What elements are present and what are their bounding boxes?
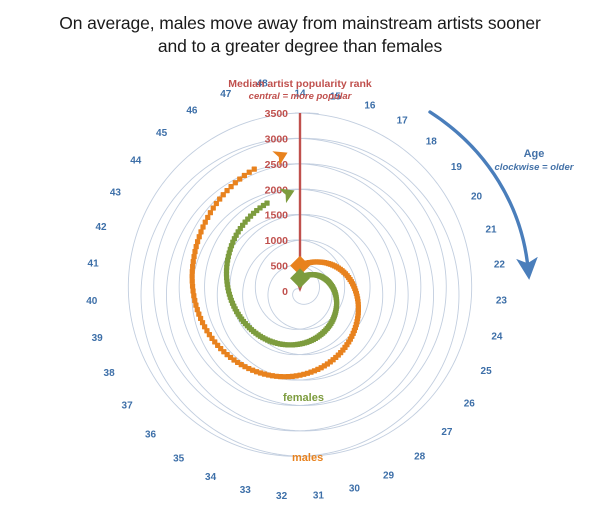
age-tick-label: 42 bbox=[95, 222, 107, 233]
series-label-females: females bbox=[283, 392, 324, 404]
age-tick-label: 43 bbox=[110, 187, 122, 198]
age-tick-label: 41 bbox=[88, 259, 100, 270]
age-annotation-label: Age bbox=[524, 148, 545, 160]
age-tick-label: 27 bbox=[441, 427, 453, 438]
age-tick-label: 39 bbox=[92, 333, 104, 344]
age-tick-label: 35 bbox=[173, 454, 185, 465]
age-tick-label: 30 bbox=[349, 484, 361, 495]
age-tick-label: 28 bbox=[414, 451, 426, 462]
age-tick-label: 19 bbox=[451, 162, 463, 173]
age-tick-label: 36 bbox=[145, 430, 157, 441]
age-tick-label: 31 bbox=[313, 491, 325, 502]
age-tick-labels: 1415161718192021222324252627282930313233… bbox=[86, 78, 507, 502]
radial-tick-label: 500 bbox=[270, 261, 288, 273]
chart-page: On average, males move away from mainstr… bbox=[0, 0, 600, 516]
age-tick-label: 21 bbox=[485, 225, 497, 236]
radial-axis-title: Median artist popularity rank central = … bbox=[180, 78, 420, 103]
age-tick-label: 45 bbox=[156, 128, 168, 139]
age-tick-label: 44 bbox=[130, 156, 142, 167]
radial-tick-label: 1500 bbox=[265, 210, 289, 222]
age-tick-label: 38 bbox=[104, 368, 116, 379]
age-tick-label: 37 bbox=[122, 401, 134, 412]
age-tick-label: 25 bbox=[481, 366, 493, 377]
age-tick-label: 33 bbox=[240, 485, 252, 496]
radial-tick-label: 3000 bbox=[265, 133, 289, 145]
age-tick-label: 18 bbox=[426, 136, 438, 147]
age-tick-label: 26 bbox=[464, 398, 476, 409]
age-tick-label: 20 bbox=[471, 192, 483, 203]
radial-tick-label: 1000 bbox=[265, 235, 289, 247]
age-tick-label: 24 bbox=[491, 332, 503, 343]
age-tick-label: 40 bbox=[86, 296, 98, 307]
age-tick-label: 46 bbox=[186, 106, 198, 117]
age-tick-label: 23 bbox=[496, 296, 508, 307]
radial-axis-sublabel: central = more popular bbox=[180, 91, 420, 104]
age-tick-label: 17 bbox=[397, 116, 409, 127]
series-label-males: males bbox=[292, 452, 323, 464]
age-tick-label: 32 bbox=[276, 491, 288, 502]
radial-tick-label: 0 bbox=[282, 286, 288, 298]
radial-tick-marks bbox=[295, 113, 310, 266]
radial-tick-label: 2500 bbox=[265, 159, 289, 171]
age-direction-arrow bbox=[430, 112, 528, 268]
radial-tick-label: 3500 bbox=[265, 108, 289, 120]
age-tick-label: 22 bbox=[494, 260, 506, 271]
age-tick-label: 34 bbox=[205, 472, 217, 483]
radial-axis-label: Median artist popularity rank bbox=[228, 78, 372, 90]
age-annotation-sublabel: clockwise = older bbox=[470, 161, 598, 174]
age-annotation: Age clockwise = older bbox=[470, 148, 598, 174]
age-tick-label: 29 bbox=[383, 470, 395, 481]
